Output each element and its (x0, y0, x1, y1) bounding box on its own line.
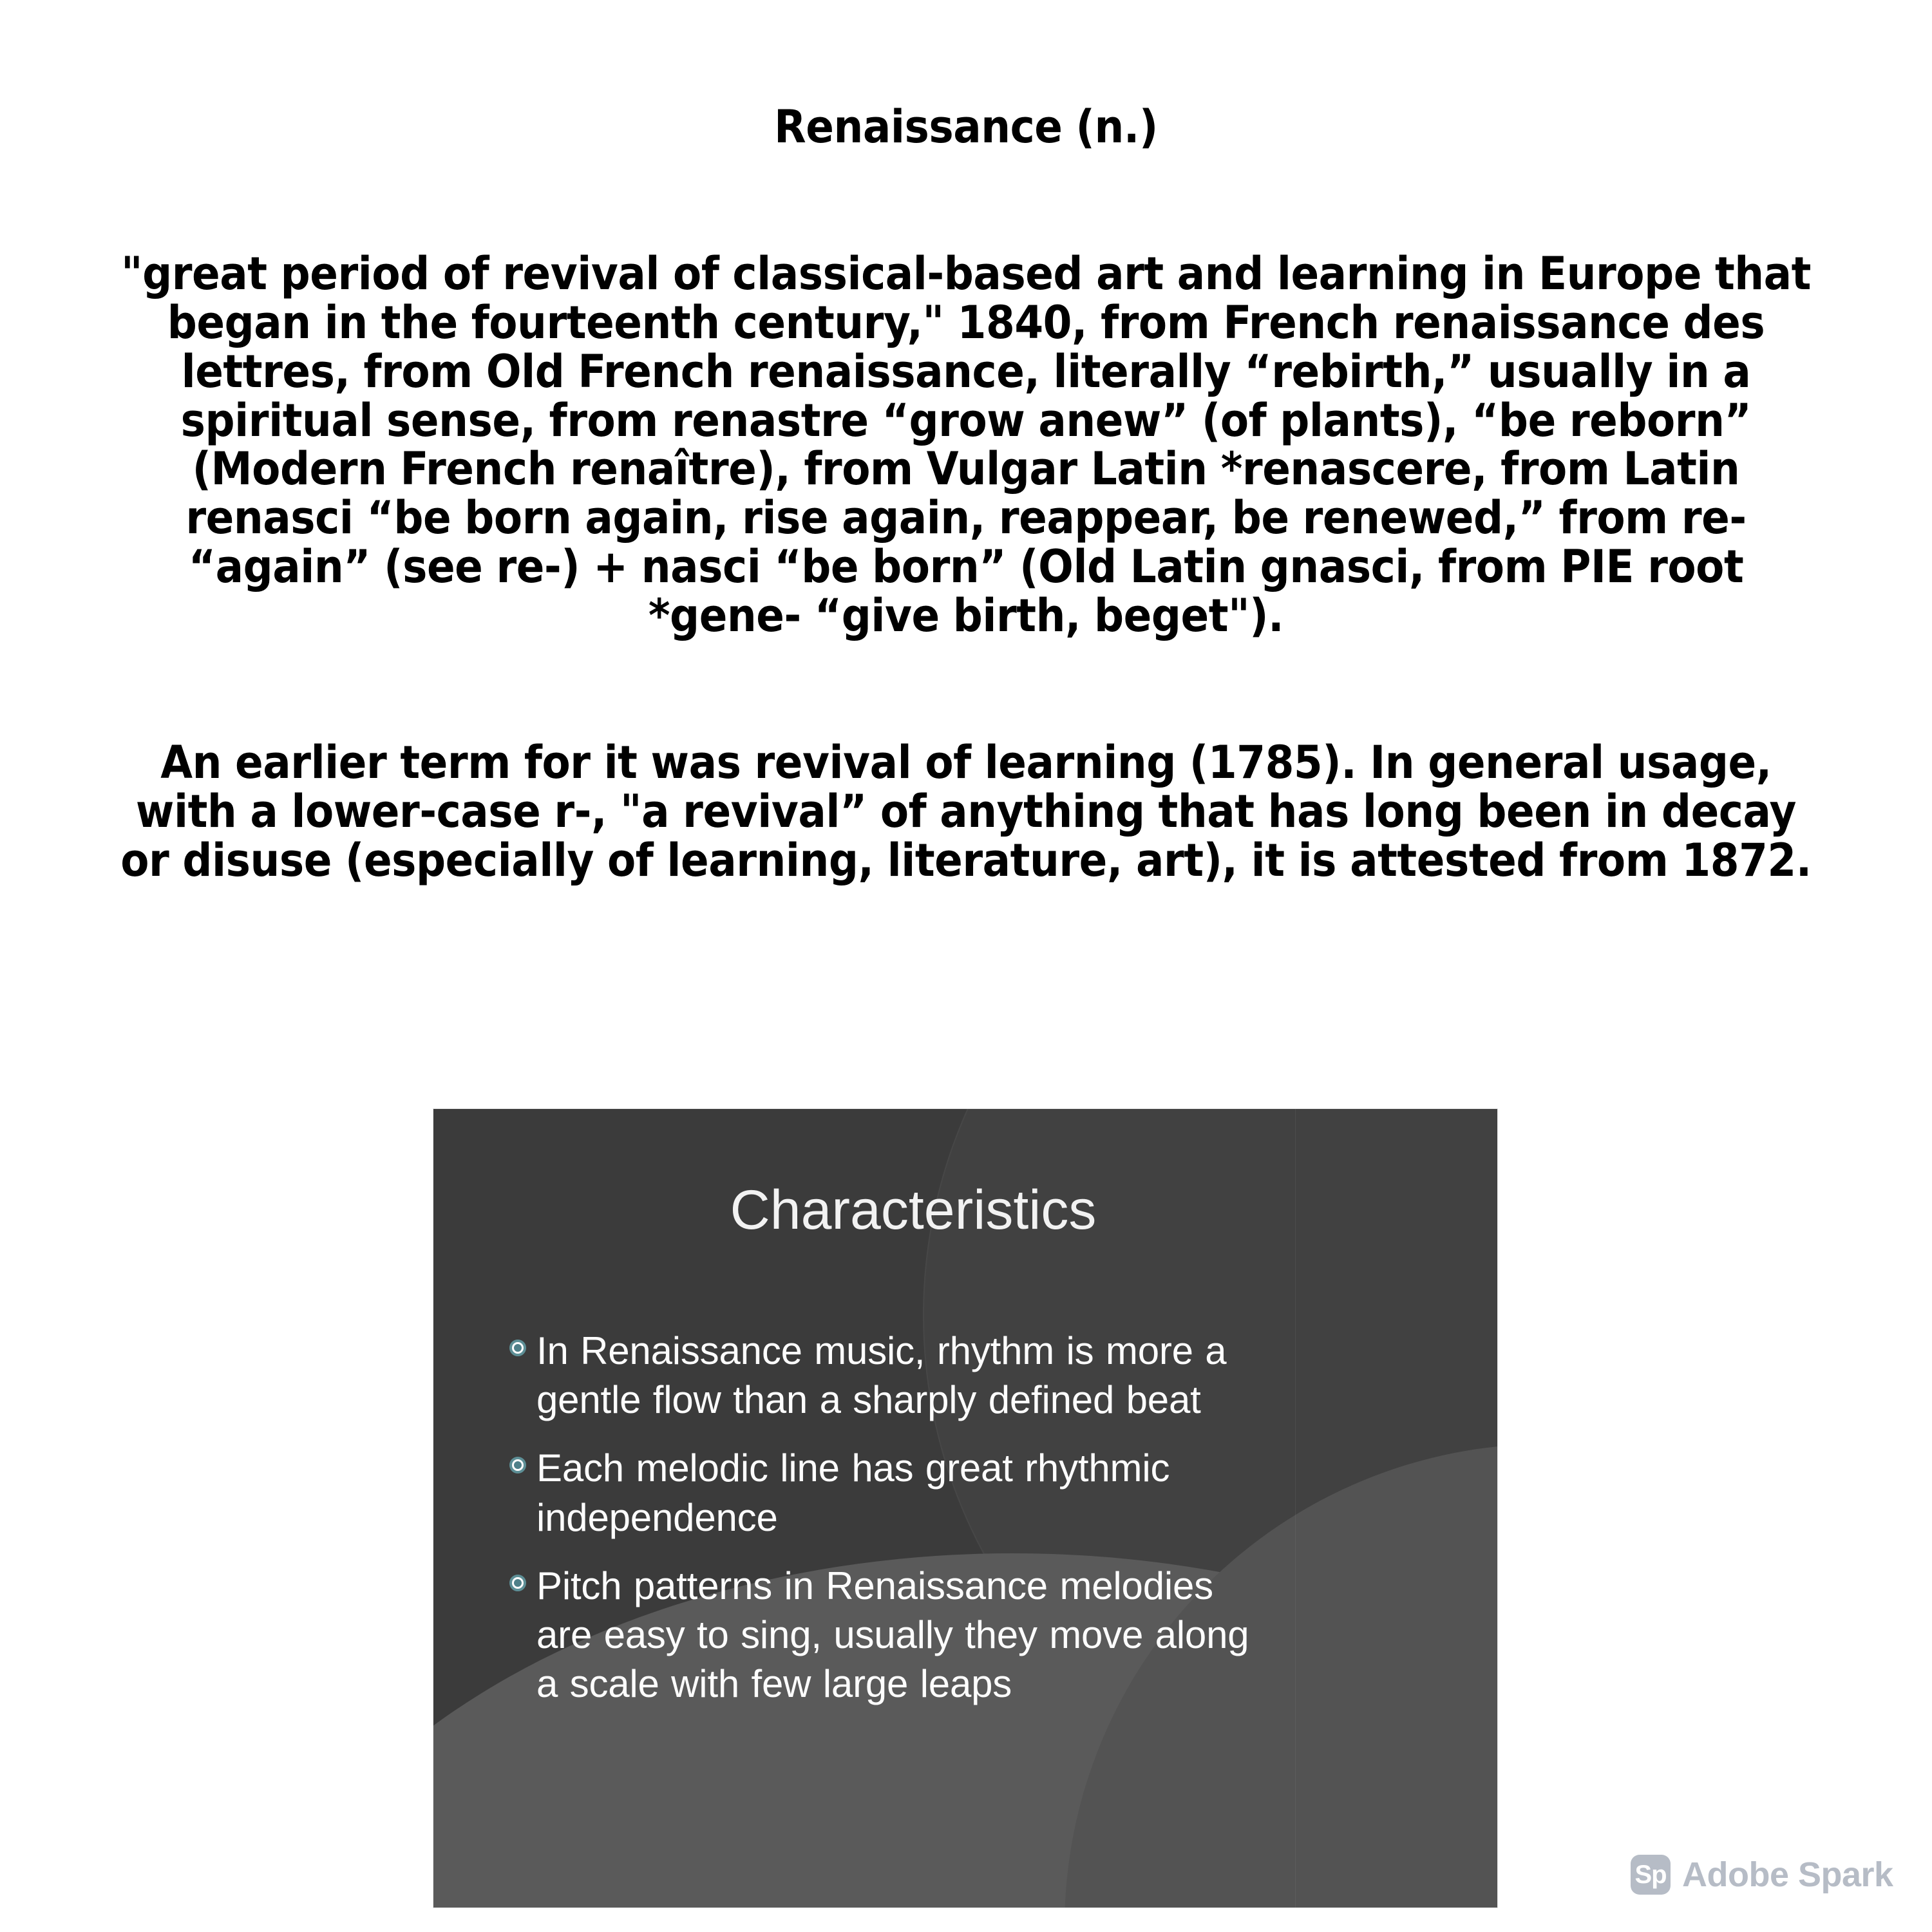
bullet-target-icon (509, 1575, 526, 1591)
bullet-text: Pitch patterns in Renaissance melodies a… (536, 1562, 1269, 1709)
list-item: Pitch patterns in Renaissance melodies a… (509, 1562, 1269, 1709)
bullet-target-icon (509, 1457, 526, 1473)
bullet-text: In Renaissance music, rhythm is more a g… (536, 1327, 1269, 1425)
slide-content: Characteristics In Renaissance music, rh… (433, 1109, 1497, 1908)
adobe-spark-watermark[interactable]: Sp Adobe Spark (1631, 1855, 1893, 1895)
bullet-text: Each melodic line has great rhythmic ind… (536, 1444, 1269, 1542)
presentation-slide-image: Characteristics In Renaissance music, rh… (433, 1109, 1497, 1908)
adobe-spark-wordmark: Adobe Spark (1682, 1855, 1893, 1895)
adobe-spark-logo-icon: Sp (1631, 1855, 1671, 1895)
list-item: In Renaissance music, rhythm is more a g… (509, 1327, 1269, 1425)
bullet-target-icon (509, 1340, 526, 1356)
list-item: Each melodic line has great rhythmic ind… (509, 1444, 1269, 1542)
etymology-paragraph-2: An earlier term for it was revival of le… (110, 739, 1823, 885)
etymology-headword: Renaissance (n.) (110, 103, 1823, 152)
etymology-text-block: Renaissance (n.) "great period of reviva… (110, 5, 1823, 934)
etymology-paragraph-1: "great period of revival of classical-ba… (110, 250, 1823, 641)
slide-bullet-list: In Renaissance music, rhythm is more a g… (509, 1327, 1269, 1728)
slide-title: Characteristics (433, 1179, 1393, 1242)
